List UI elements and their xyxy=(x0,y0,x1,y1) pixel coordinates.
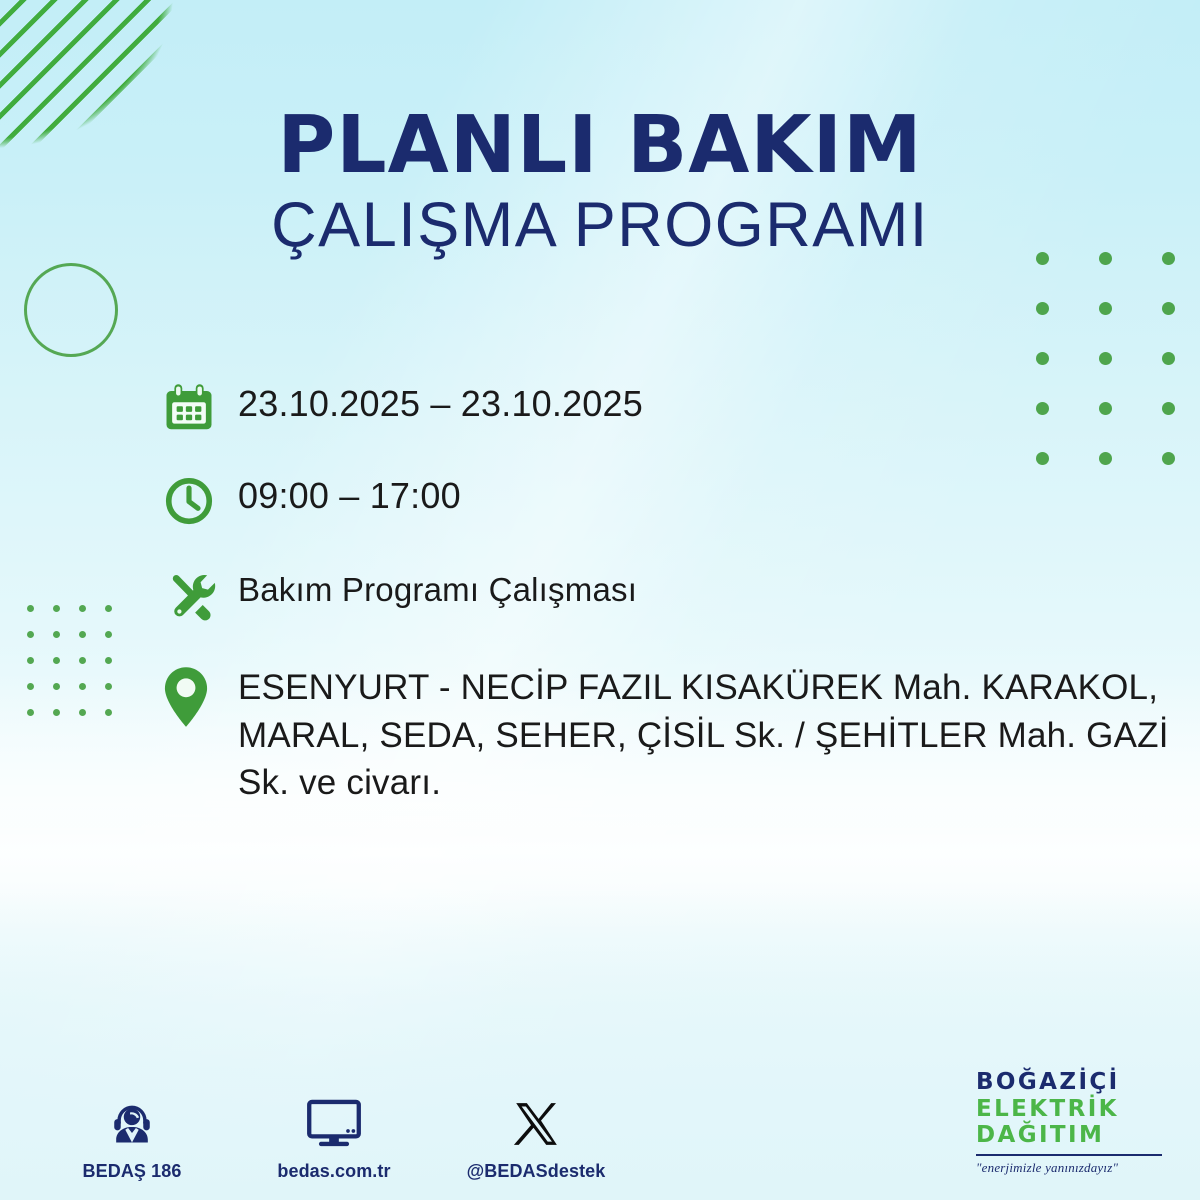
contact-phone[interactable]: BEDAŞ 186 xyxy=(58,1093,206,1182)
x-logo-icon xyxy=(511,1093,561,1149)
circle-outline-decoration xyxy=(24,263,118,357)
detail-row-date: 23.10.2025 – 23.10.2025 xyxy=(162,378,1172,452)
work-type-text: Bakım Programı Çalışması xyxy=(238,566,637,612)
support-agent-icon xyxy=(106,1093,158,1149)
map-pin-icon xyxy=(162,662,238,728)
brand-tagline: "enerjimizle yanınızdayız" xyxy=(976,1160,1172,1176)
tools-icon xyxy=(162,566,238,624)
poster-footer: BEDAŞ 186 bedas.com.tr xyxy=(0,1030,1200,1200)
brand-line-2: ELEKTRİK xyxy=(976,1096,1172,1123)
location-text: ESENYURT - NECİP FAZIL KISAKÜREK Mah. KA… xyxy=(238,662,1172,807)
date-range-text: 23.10.2025 – 23.10.2025 xyxy=(238,378,643,428)
clock-icon xyxy=(162,470,238,528)
detail-row-work-type: Bakım Programı Çalışması xyxy=(162,566,1172,644)
contact-phone-label: BEDAŞ 186 xyxy=(83,1161,182,1182)
page-title: PLANLI BAKIM xyxy=(0,108,1200,184)
brand-line-1: BOĞAZİÇİ xyxy=(976,1069,1172,1096)
bedas-logo: BOĞAZİÇİ ELEKTRİK DAĞITIM "enerjimizle y… xyxy=(976,1069,1172,1176)
contact-website[interactable]: bedas.com.tr xyxy=(260,1093,408,1182)
outage-details: 23.10.2025 – 23.10.2025 09:00 – 17:00 xyxy=(162,378,1172,807)
detail-row-location: ESENYURT - NECİP FAZIL KISAKÜREK Mah. KA… xyxy=(162,662,1172,807)
contact-list: BEDAŞ 186 bedas.com.tr xyxy=(58,1093,610,1182)
contact-website-label: bedas.com.tr xyxy=(277,1161,390,1182)
brand-divider xyxy=(976,1154,1162,1156)
poster-heading: PLANLI BAKIM ÇALIŞMA PROGRAMI xyxy=(0,108,1200,258)
poster-canvas: PLANLI BAKIM ÇALIŞMA PROGRAMI xyxy=(0,0,1200,1200)
detail-row-time: 09:00 – 17:00 xyxy=(162,470,1172,548)
monitor-icon xyxy=(306,1093,362,1149)
page-subtitle: ÇALIŞMA PROGRAMI xyxy=(0,192,1200,258)
brand-line-3: DAĞITIM xyxy=(976,1122,1172,1149)
calendar-icon xyxy=(162,378,238,436)
time-range-text: 09:00 – 17:00 xyxy=(238,470,461,520)
contact-x[interactable]: @BEDASdestek xyxy=(462,1093,610,1182)
contact-x-label: @BEDASdestek xyxy=(467,1161,606,1182)
dot-grid-left-decoration xyxy=(18,596,122,726)
